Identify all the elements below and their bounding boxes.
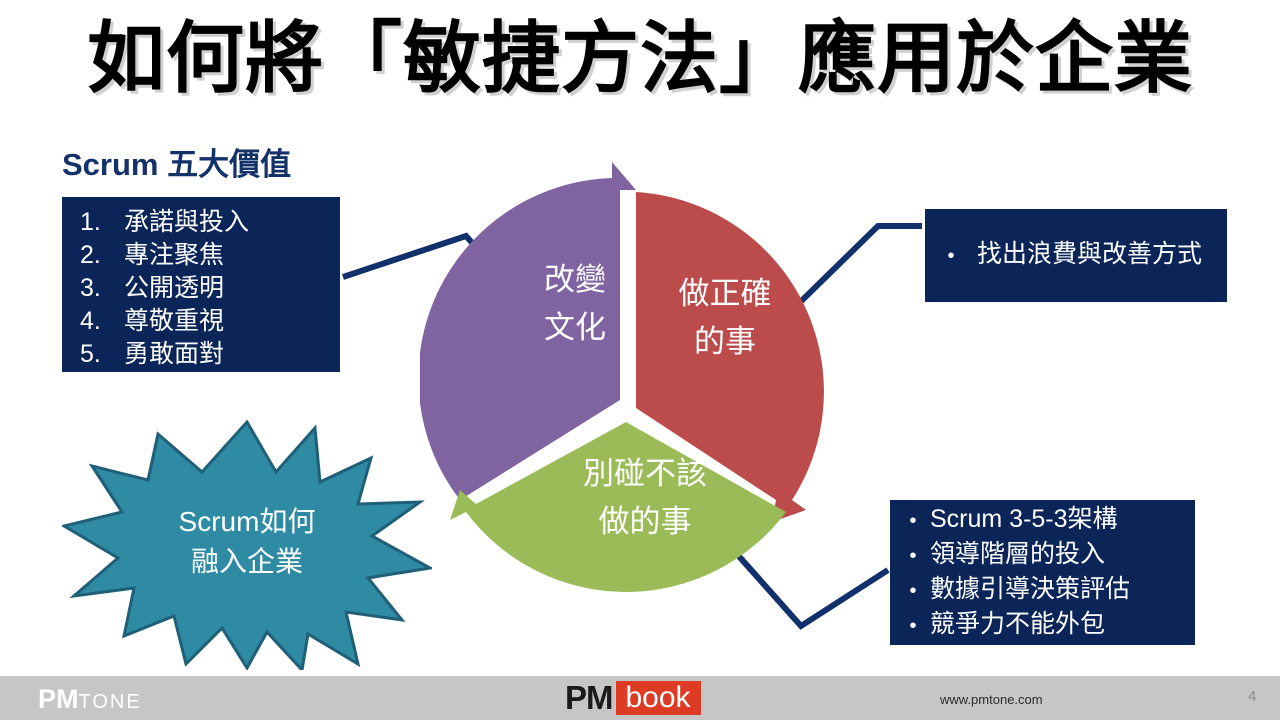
bullet-icon: • (896, 575, 930, 608)
list-item-number: 4. (72, 305, 124, 338)
bullet-icon: • (896, 610, 930, 643)
website-url: www.pmtone.com (940, 692, 1043, 707)
list-item: • Scrum 3-5-3架構 (896, 503, 1195, 538)
list-item-label: 公開透明 (124, 272, 224, 305)
list-item: 1. 承諾與投入 (72, 206, 340, 239)
bullet-icon: • (925, 240, 977, 273)
pmtone-logo-bold: PM (38, 684, 79, 714)
list-item: • 競爭力不能外包 (896, 608, 1195, 643)
pmtone-logo: PMTONE (38, 686, 142, 716)
list-item: • 數據引導決策評估 (896, 573, 1195, 608)
cycle-diagram: 改變 文化 做正確 的事 別碰不該 做的事 (420, 160, 880, 660)
callout-bottom-right-list: • Scrum 3-5-3架構 • 領導階層的投入 • 數據引導決策評估 • 競… (896, 503, 1195, 643)
list-item-label: 勇敢面對 (124, 338, 224, 371)
list-item-label: 尊敬重視 (124, 305, 224, 338)
list-item-label: Scrum 3-5-3架構 (930, 503, 1118, 536)
list-item-label: 找出浪費與改善方式 (977, 238, 1202, 271)
list-item: 5. 勇敢面對 (72, 338, 340, 371)
list-item: 4. 尊敬重視 (72, 305, 340, 338)
list-item-label: 承諾與投入 (124, 206, 249, 239)
pmbook-logo: PM book (565, 681, 701, 715)
pmtone-logo-small: TONE (79, 691, 142, 713)
page-title: 如何將「敏捷方法」應用於企業 (0, 18, 1280, 100)
callout-top-right-list: • 找出浪費與改善方式 (925, 238, 1227, 273)
bullet-icon: • (896, 505, 930, 538)
list-item-number: 1. (72, 206, 124, 239)
list-item-label: 競爭力不能外包 (930, 608, 1105, 641)
scrum-values-box: 1. 承諾與投入 2. 專注聚焦 3. 公開透明 4. 尊敬重視 5. 勇敢面對 (62, 197, 340, 372)
slide-canvas: 如何將「敏捷方法」應用於企業 Scrum 五大價值 1. 承諾與投入 2. 專注… (0, 0, 1280, 720)
list-item-label: 數據引導決策評估 (930, 573, 1130, 606)
list-item: • 找出浪費與改善方式 (925, 238, 1227, 273)
list-item: • 領導階層的投入 (896, 538, 1195, 573)
subtitle: Scrum 五大價值 (62, 139, 291, 184)
callout-top-right: • 找出浪費與改善方式 (925, 209, 1227, 302)
list-item-number: 2. (72, 239, 124, 272)
callout-bottom-right: • Scrum 3-5-3架構 • 領導階層的投入 • 數據引導決策評估 • 競… (890, 500, 1195, 645)
page-number: 4 (1248, 688, 1256, 705)
pmbook-logo-pm: PM (565, 681, 613, 715)
bullet-icon: • (896, 540, 930, 573)
starburst-shape[interactable] (64, 422, 430, 670)
list-item-label: 專注聚焦 (124, 239, 224, 272)
list-item-label: 領導階層的投入 (930, 538, 1105, 571)
list-item-number: 5. (72, 338, 124, 371)
scrum-values-list: 1. 承諾與投入 2. 專注聚焦 3. 公開透明 4. 尊敬重視 5. 勇敢面對 (72, 206, 340, 371)
starburst-callout[interactable]: Scrum如何 融入企業 (62, 420, 432, 670)
pmbook-logo-book: book (616, 681, 701, 715)
list-item-number: 3. (72, 272, 124, 305)
list-item: 3. 公開透明 (72, 272, 340, 305)
list-item: 2. 專注聚焦 (72, 239, 340, 272)
